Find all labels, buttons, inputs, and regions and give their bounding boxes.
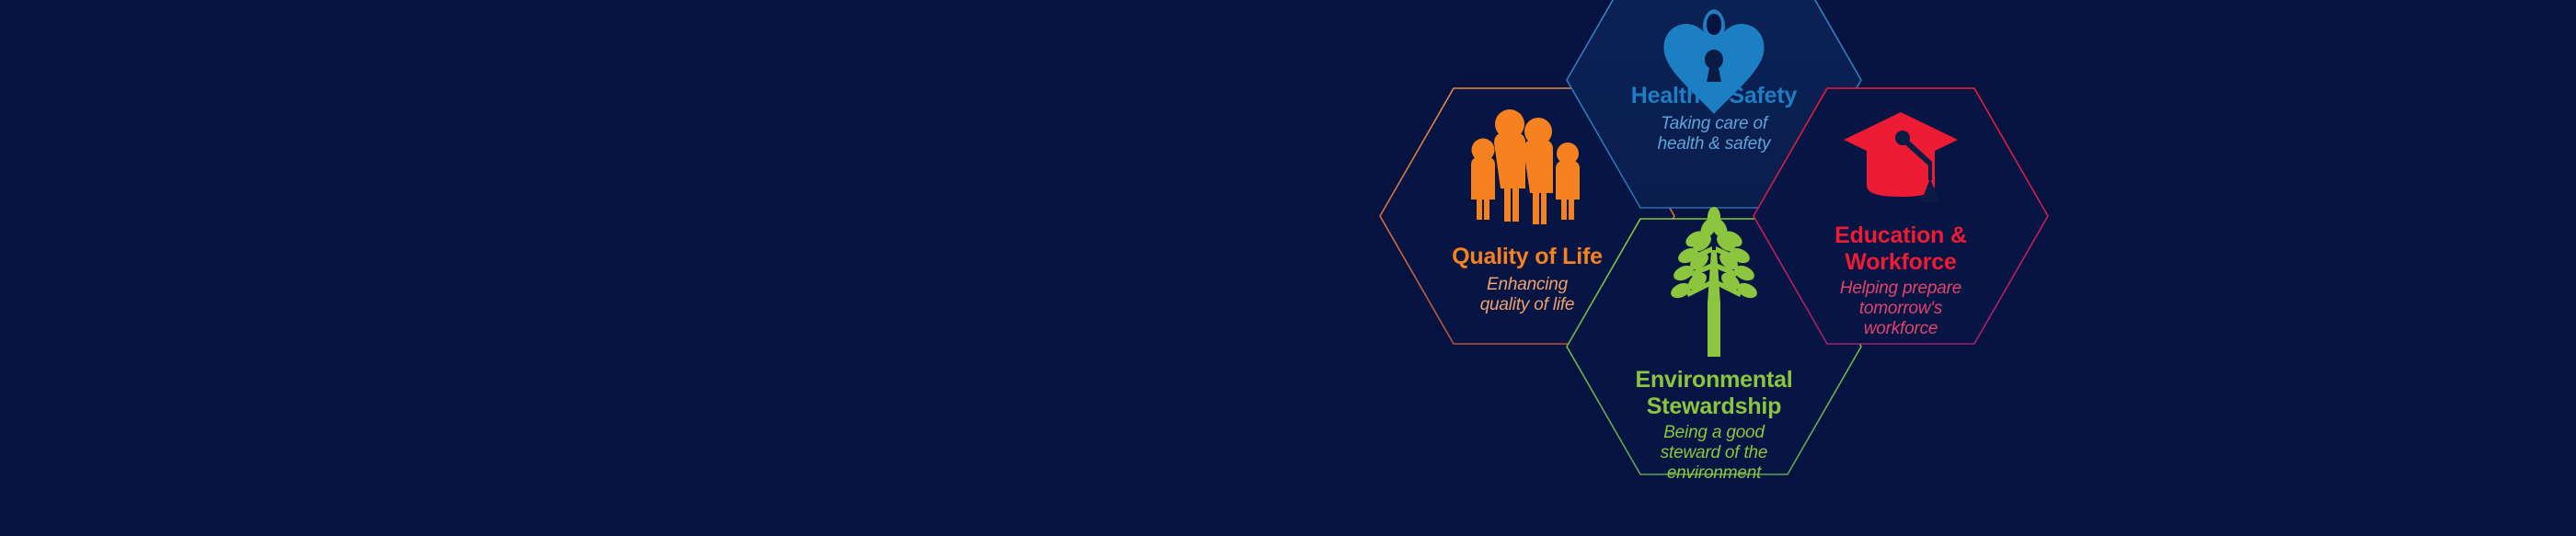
hexagon-education-and-workforce-subtitle-line-3: workforce <box>1864 319 1938 338</box>
hexagon-education-and-workforce-subtitle-line-2: tomorrow's <box>1859 299 1943 318</box>
hexagon-environmental-stewardship-subtitle-line-2: steward of the <box>1661 443 1768 462</box>
hexagon-quality-of-life-title: Quality of Life <box>1452 244 1603 269</box>
hexagon-education-and-workforce-title-line-1: Education & <box>1834 222 1967 248</box>
hexagon-environmental-stewardship-subtitle-line-1: Being a good <box>1663 423 1765 442</box>
hexagon-health-and-safety-title: Health & Safety <box>1631 83 1798 108</box>
hexagon-quality-of-life-subtitle-line-1: Enhancing <box>1487 275 1569 294</box>
hexagon-health-and-safety-subtitle-line-2: health & safety <box>1658 134 1772 154</box>
hexagon-environmental-stewardship-title-line-1: Environmental <box>1635 367 1792 393</box>
hexagon-environmental-stewardship-title-line-2: Stewardship <box>1647 393 1781 419</box>
hexagon-cluster-diagram: Quality of Life Enhancing quality of lif… <box>1325 0 2079 536</box>
hexagon-environmental-stewardship-subtitle-line-3: environment <box>1667 463 1762 483</box>
hexagon-education-and-workforce-subtitle-line-1: Helping prepare <box>1840 279 1961 298</box>
hexagon-education-and-workforce-title-line-2: Workforce <box>1845 249 1957 275</box>
hexagon-quality-of-life-subtitle-line-2: quality of life <box>1480 295 1575 314</box>
hexagon-health-and-safety-subtitle-line-1: Taking care of <box>1661 114 1769 133</box>
screenshot-canvas: Quality of Life Enhancing quality of lif… <box>0 0 2576 536</box>
